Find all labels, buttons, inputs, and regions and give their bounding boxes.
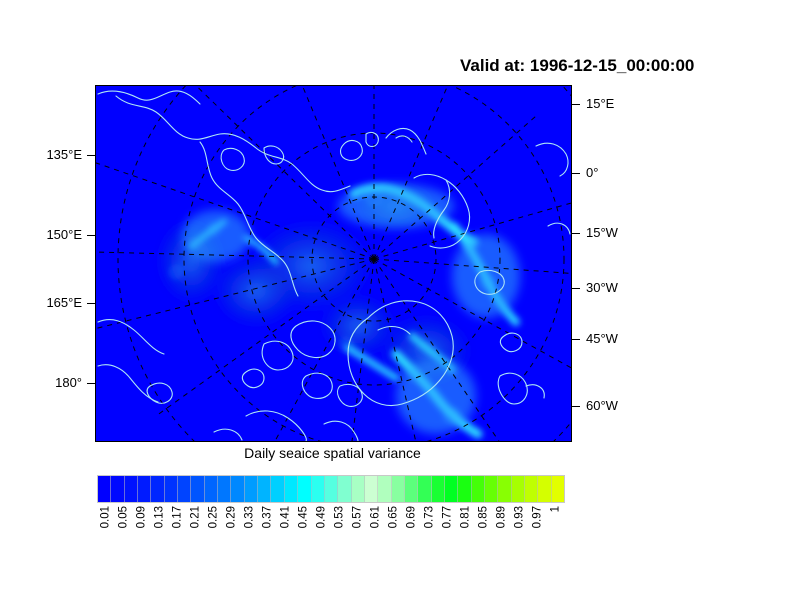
colorbar-cell-26 bbox=[445, 476, 458, 502]
colorbar-cell-0 bbox=[98, 476, 111, 502]
polar-map bbox=[96, 86, 571, 441]
axis-label-right-4: 45°W bbox=[586, 332, 618, 345]
colorbar-tick-slot: 0.01 bbox=[97, 506, 115, 566]
colorbar-tick-slot: 0.37 bbox=[259, 506, 277, 566]
axis-tick-right bbox=[571, 406, 580, 407]
colorbar-tick-20: 0.81 bbox=[460, 506, 472, 528]
figure-canvas: Valid at: 1996-12-15_00:00:00 bbox=[0, 0, 792, 612]
colorbar-cell-1 bbox=[111, 476, 124, 502]
colorbar-cell-11 bbox=[245, 476, 258, 502]
colorbar-tick-slot: 0.45 bbox=[295, 506, 313, 566]
colorbar-cell-18 bbox=[338, 476, 351, 502]
axis-label-right-0: 15°E bbox=[586, 97, 614, 110]
colorbar-tick-slot: 0.77 bbox=[439, 506, 457, 566]
colorbar-tick-slot: 0.13 bbox=[151, 506, 169, 566]
colorbar-tick-slot: 0.81 bbox=[457, 506, 475, 566]
colorbar-tick-4: 0.17 bbox=[172, 506, 184, 528]
axis-label-right-3: 30°W bbox=[586, 281, 618, 294]
map-panel[interactable] bbox=[95, 85, 572, 442]
axis-tick-right bbox=[571, 173, 580, 174]
colorbar-tick-slot: 0.93 bbox=[511, 506, 529, 566]
colorbar-cell-6 bbox=[178, 476, 191, 502]
colorbar-tick-slot: 0.29 bbox=[223, 506, 241, 566]
colorbar-tick-slot: 0.61 bbox=[367, 506, 385, 566]
axis-tick-left bbox=[87, 235, 96, 236]
colorbar-cell-31 bbox=[512, 476, 525, 502]
colorbar-cell-20 bbox=[365, 476, 378, 502]
axis-label-left-3: 180° bbox=[0, 376, 82, 389]
colorbar-cell-23 bbox=[405, 476, 418, 502]
colorbar-tick-18: 0.73 bbox=[424, 506, 436, 528]
colorbar-cell-8 bbox=[205, 476, 218, 502]
colorbar-tick-15: 0.61 bbox=[370, 506, 382, 528]
axis-tick-left bbox=[87, 303, 96, 304]
axis-tick-right bbox=[571, 104, 580, 105]
colorbar-cell-5 bbox=[165, 476, 178, 502]
north-pole-marker bbox=[372, 257, 375, 260]
colorbar-cell-33 bbox=[538, 476, 551, 502]
colorbar-tick-24: 0.97 bbox=[532, 506, 544, 528]
colorbar-cell-27 bbox=[458, 476, 471, 502]
colorbar-tick-slot: 1 bbox=[547, 506, 565, 566]
colorbar-cell-32 bbox=[525, 476, 538, 502]
colorbar-tick-7: 0.29 bbox=[226, 506, 238, 528]
colorbar-cell-21 bbox=[378, 476, 391, 502]
colorbar-tick-slot: 0.57 bbox=[349, 506, 367, 566]
colorbar-tick-slot: 0.09 bbox=[133, 506, 151, 566]
colorbar-cell-25 bbox=[432, 476, 445, 502]
colorbar-tick-16: 0.65 bbox=[388, 506, 400, 528]
colorbar-cell-30 bbox=[498, 476, 511, 502]
colorbar-tick-11: 0.45 bbox=[298, 506, 310, 528]
colorbar-tick-3: 0.13 bbox=[154, 506, 166, 528]
colorbar-cell-10 bbox=[231, 476, 244, 502]
colorbar[interactable] bbox=[97, 475, 565, 503]
colorbar-tick-slot: 0.69 bbox=[403, 506, 421, 566]
colorbar-tick-25: 1 bbox=[550, 506, 562, 512]
colorbar-tick-6: 0.25 bbox=[208, 506, 220, 528]
colorbar-tick-slot: 0.53 bbox=[331, 506, 349, 566]
colorbar-cell-7 bbox=[191, 476, 204, 502]
axis-label-right-2: 15°W bbox=[586, 226, 618, 239]
colorbar-tick-8: 0.33 bbox=[244, 506, 256, 528]
colorbar-cell-13 bbox=[271, 476, 284, 502]
colorbar-tick-9: 0.37 bbox=[262, 506, 274, 528]
colorbar-cell-19 bbox=[352, 476, 365, 502]
colorbar-tick-1: 0.05 bbox=[118, 506, 130, 528]
axis-label-right-1: 0° bbox=[586, 166, 598, 179]
axis-tick-left bbox=[87, 383, 96, 384]
colorbar-tick-5: 0.21 bbox=[190, 506, 202, 528]
colorbar-tick-slot: 0.21 bbox=[187, 506, 205, 566]
axis-label-left-1: 150°E bbox=[0, 228, 82, 241]
axis-tick-right bbox=[571, 233, 580, 234]
colorbar-tick-slot: 0.41 bbox=[277, 506, 295, 566]
colorbar-cell-28 bbox=[472, 476, 485, 502]
colorbar-cell-29 bbox=[485, 476, 498, 502]
page-title: Valid at: 1996-12-15_00:00:00 bbox=[460, 56, 694, 76]
colorbar-tick-13: 0.53 bbox=[334, 506, 346, 528]
colorbar-cell-24 bbox=[418, 476, 431, 502]
colorbar-cell-4 bbox=[151, 476, 164, 502]
colorbar-tick-19: 0.77 bbox=[442, 506, 454, 528]
axis-label-right-5: 60°W bbox=[586, 399, 618, 412]
colorbar-tick-21: 0.85 bbox=[478, 506, 490, 528]
colorbar-tick-slot: 0.89 bbox=[493, 506, 511, 566]
colorbar-cell-3 bbox=[138, 476, 151, 502]
colorbar-tick-23: 0.93 bbox=[514, 506, 526, 528]
colorbar-cell-15 bbox=[298, 476, 311, 502]
map-caption: Daily seaice spatial variance bbox=[0, 445, 665, 461]
axis-label-left-2: 165°E bbox=[0, 296, 82, 309]
colorbar-cell-17 bbox=[325, 476, 338, 502]
colorbar-tick-slot: 0.85 bbox=[475, 506, 493, 566]
colorbar-tick-slot: 0.17 bbox=[169, 506, 187, 566]
colorbar-tick-slot: 0.97 bbox=[529, 506, 547, 566]
colorbar-tick-17: 0.69 bbox=[406, 506, 418, 528]
colorbar-tick-14: 0.57 bbox=[352, 506, 364, 528]
colorbar-cell-14 bbox=[285, 476, 298, 502]
colorbar-tick-0: 0.01 bbox=[100, 506, 112, 528]
colorbar-cell-9 bbox=[218, 476, 231, 502]
colorbar-cell-34 bbox=[552, 476, 564, 502]
axis-tick-right bbox=[571, 288, 580, 289]
colorbar-cell-2 bbox=[125, 476, 138, 502]
colorbar-tick-slot: 0.65 bbox=[385, 506, 403, 566]
colorbar-cell-12 bbox=[258, 476, 271, 502]
colorbar-tick-10: 0.41 bbox=[280, 506, 292, 528]
colorbar-cell-22 bbox=[392, 476, 405, 502]
colorbar-tick-slot: 0.25 bbox=[205, 506, 223, 566]
colorbar-tick-slot: 0.33 bbox=[241, 506, 259, 566]
axis-tick-left bbox=[87, 155, 96, 156]
colorbar-tick-labels: 0.010.050.090.130.170.210.250.290.330.37… bbox=[97, 506, 565, 566]
colorbar-gradient[interactable] bbox=[97, 475, 565, 503]
colorbar-tick-22: 0.89 bbox=[496, 506, 508, 528]
colorbar-cell-16 bbox=[312, 476, 325, 502]
colorbar-tick-slot: 0.05 bbox=[115, 506, 133, 566]
colorbar-tick-2: 0.09 bbox=[136, 506, 148, 528]
colorbar-tick-slot: 0.49 bbox=[313, 506, 331, 566]
axis-label-left-0: 135°E bbox=[0, 148, 82, 161]
axis-tick-right bbox=[571, 339, 580, 340]
colorbar-tick-slot: 0.73 bbox=[421, 506, 439, 566]
colorbar-tick-12: 0.49 bbox=[316, 506, 328, 528]
